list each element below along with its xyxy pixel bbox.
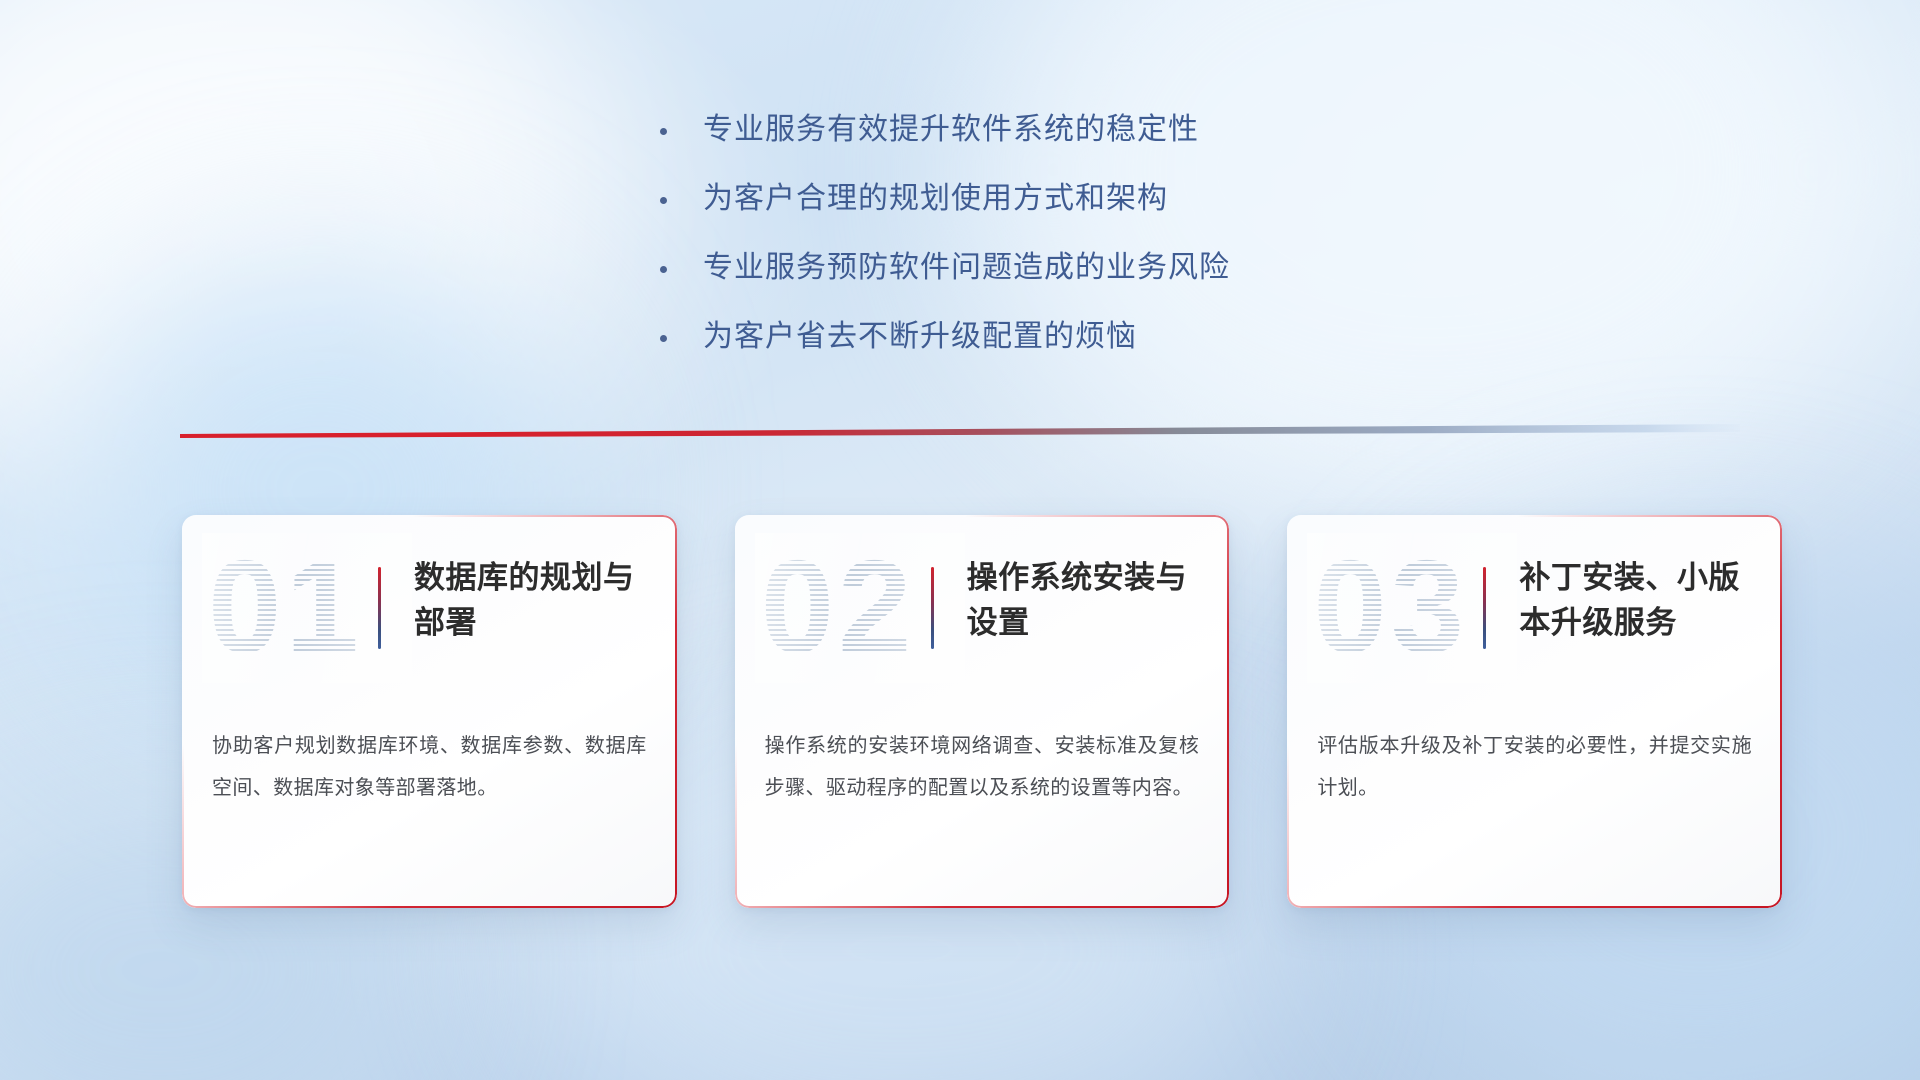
highlight-text: 专业服务有效提升软件系统的稳定性 — [703, 110, 1199, 150]
list-item: 为客户省去不断升级配置的烦恼 — [660, 317, 1420, 357]
card-description: 评估版本升级及补丁安装的必要性，并提交实施计划。 — [1317, 725, 1752, 809]
card-number-watermark: 02 — [761, 539, 951, 675]
list-item: 专业服务有效提升软件系统的稳定性 — [660, 110, 1420, 150]
service-card-list: 01 数据库的规划与部署 协助客户规划数据库环境、数据库参数、数据库空间、数据库… — [182, 515, 1782, 908]
card-number-watermark: 03 — [1313, 539, 1503, 675]
service-card[interactable]: 03 补丁安装、小版本升级服务 评估版本升级及补丁安装的必要性，并提交实施计划。 — [1287, 515, 1782, 908]
highlight-text: 为客户合理的规划使用方式和架构 — [703, 179, 1168, 219]
list-item: 为客户合理的规划使用方式和架构 — [660, 179, 1420, 219]
card-title: 补丁安装、小版本升级服务 — [1519, 555, 1759, 645]
card-title: 操作系统安装与设置 — [967, 555, 1207, 645]
slide-canvas: 专业服务有效提升软件系统的稳定性 为客户合理的规划使用方式和架构 专业服务预防软… — [0, 0, 1920, 1080]
bullet-dot-icon — [660, 266, 667, 273]
card-accent-bar — [378, 567, 381, 649]
bullet-dot-icon — [660, 197, 667, 204]
highlight-text: 为客户省去不断升级配置的烦恼 — [703, 317, 1137, 357]
card-header: 03 补丁安装、小版本升级服务 — [1287, 515, 1782, 711]
background-glow-1 — [0, 0, 600, 520]
card-header: 02 操作系统安装与设置 — [735, 515, 1230, 711]
highlights-list: 专业服务有效提升软件系统的稳定性 为客户合理的规划使用方式和架构 专业服务预防软… — [660, 110, 1420, 386]
card-accent-bar — [931, 567, 934, 649]
bullet-dot-icon — [660, 335, 667, 342]
bullet-dot-icon — [660, 128, 667, 135]
card-number-watermark: 01 — [208, 539, 398, 675]
card-description: 操作系统的安装环境网络调查、安装标准及复核步骤、驱动程序的配置以及系统的设置等内… — [765, 725, 1200, 809]
card-description: 协助客户规划数据库环境、数据库参数、数据库空间、数据库对象等部署落地。 — [212, 725, 647, 809]
card-accent-bar — [1483, 567, 1486, 649]
service-card[interactable]: 01 数据库的规划与部署 协助客户规划数据库环境、数据库参数、数据库空间、数据库… — [182, 515, 677, 908]
card-header: 01 数据库的规划与部署 — [182, 515, 677, 711]
service-card[interactable]: 02 操作系统安装与设置 操作系统的安装环境网络调查、安装标准及复核步骤、驱动程… — [735, 515, 1230, 908]
card-title: 数据库的规划与部署 — [414, 555, 654, 645]
section-divider — [180, 418, 1740, 442]
list-item: 专业服务预防软件问题造成的业务风险 — [660, 248, 1420, 288]
highlight-text: 专业服务预防软件问题造成的业务风险 — [703, 248, 1230, 288]
